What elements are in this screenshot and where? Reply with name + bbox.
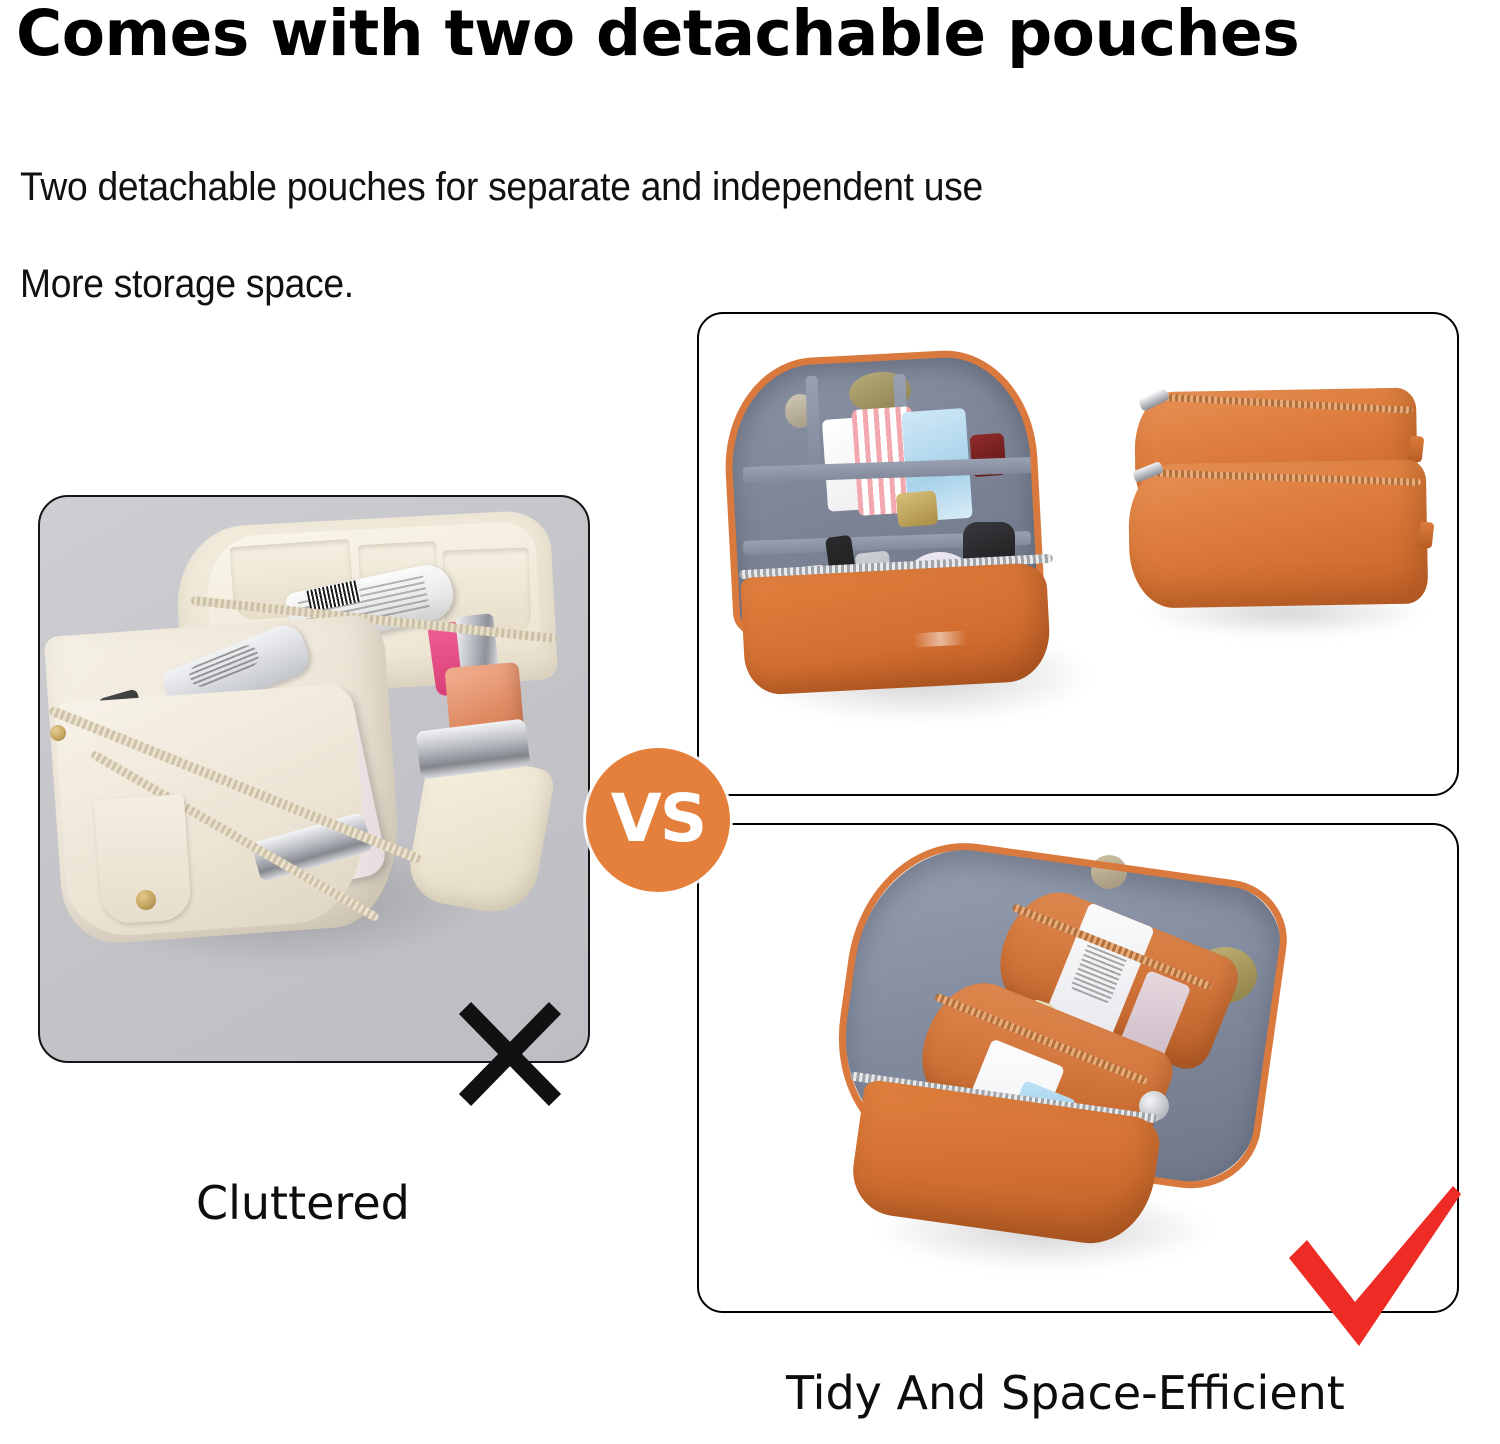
- brand-logo: [913, 631, 968, 648]
- snap-button: [136, 890, 156, 910]
- vs-badge: VS: [586, 748, 730, 892]
- caption-cluttered: Cluttered: [196, 1176, 410, 1230]
- pouch-tab: [1418, 521, 1435, 548]
- page-title: Comes with two detachable pouches: [16, 2, 1486, 65]
- side-stud: [50, 725, 66, 741]
- caption-tidy: Tidy And Space-Efficient: [786, 1366, 1345, 1420]
- subtitle-line-1: Two detachable pouches for separate and …: [20, 165, 983, 210]
- bag-front-panel: [740, 562, 1052, 696]
- cluttered-product-photo: [38, 495, 590, 1063]
- tidy-product-panel: [697, 823, 1459, 1313]
- organized-product-panel: [697, 312, 1459, 796]
- subtitle-line-2: More storage space.: [20, 262, 354, 307]
- vs-label: VS: [611, 786, 706, 852]
- pouch-tab: [1408, 435, 1425, 462]
